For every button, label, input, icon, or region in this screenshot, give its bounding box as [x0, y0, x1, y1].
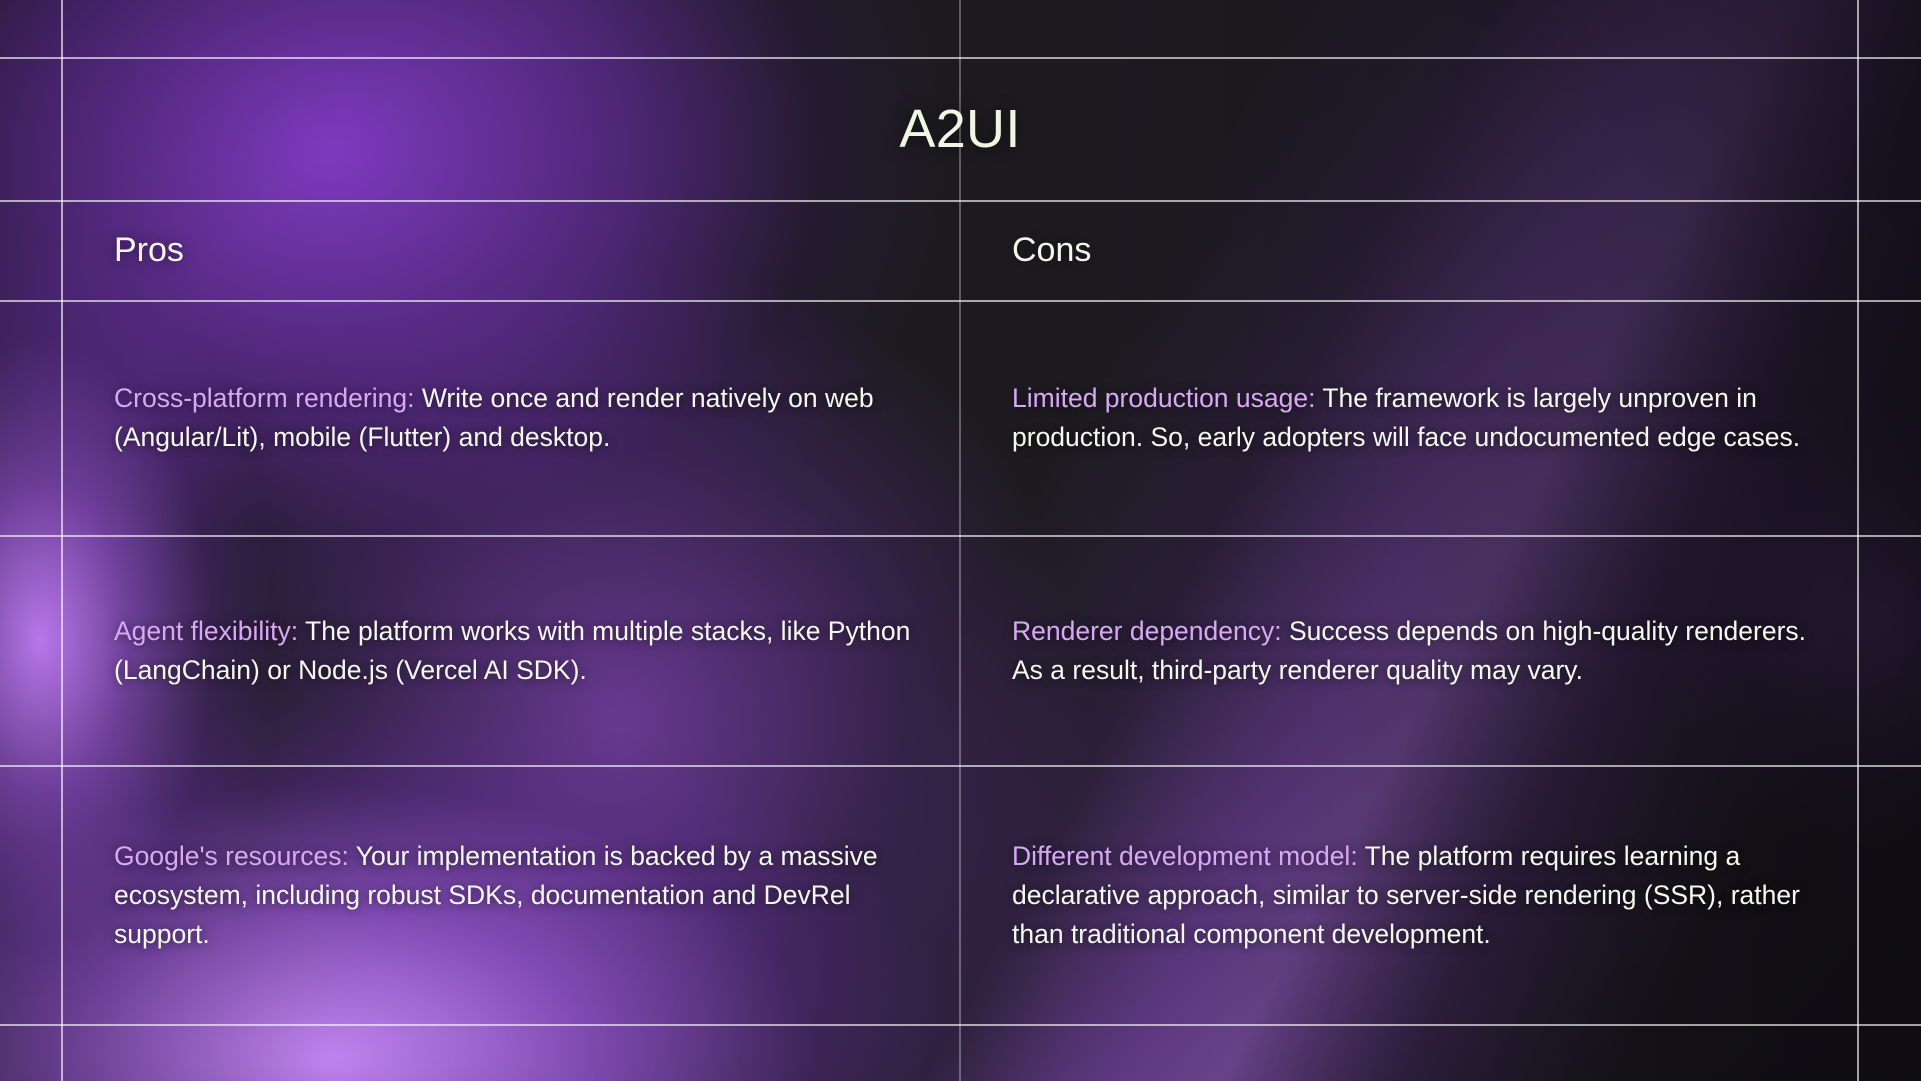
- cell-paragraph: Different development model: The platfor…: [1012, 837, 1810, 953]
- cell-paragraph: Agent flexibility: The platform works wi…: [114, 612, 912, 689]
- table-cell-cons-1: Limited production usage: The framework …: [960, 301, 1858, 535]
- table-cell-cons-2: Renderer dependency: Success depends on …: [960, 536, 1858, 765]
- cell-paragraph: Google's resources: Your implementation …: [114, 837, 912, 953]
- column-header-pros: Pros: [62, 201, 960, 300]
- table-cell-pros-3: Google's resources: Your implementation …: [62, 766, 960, 1025]
- table-cell-pros-2: Agent flexibility: The platform works wi…: [62, 536, 960, 765]
- cell-paragraph: Cross-platform rendering: Write once and…: [114, 379, 912, 456]
- column-header-cons-label: Cons: [1012, 231, 1091, 270]
- column-header-pros-label: Pros: [114, 231, 184, 270]
- pros-cons-table: A2UI Pros Cons Cross-platform rendering:…: [0, 0, 1921, 1081]
- page-title: A2UI: [899, 98, 1020, 160]
- cell-lead-label: Agent flexibility:: [114, 616, 298, 646]
- cell-paragraph: Limited production usage: The framework …: [1012, 379, 1810, 456]
- cell-lead-label: Google's resources:: [114, 841, 349, 871]
- column-header-cons: Cons: [960, 201, 1858, 300]
- cell-lead-label: Renderer dependency:: [1012, 616, 1282, 646]
- table-cell-pros-1: Cross-platform rendering: Write once and…: [62, 301, 960, 535]
- table-cell-cons-3: Different development model: The platfor…: [960, 766, 1858, 1025]
- cell-lead-label: Cross-platform rendering:: [114, 383, 414, 413]
- cell-paragraph: Renderer dependency: Success depends on …: [1012, 612, 1810, 689]
- title-band: A2UI: [62, 58, 1858, 200]
- cell-lead-label: Limited production usage:: [1012, 383, 1315, 413]
- cell-lead-label: Different development model:: [1012, 841, 1358, 871]
- slide-canvas: A2UI Pros Cons Cross-platform rendering:…: [0, 0, 1921, 1081]
